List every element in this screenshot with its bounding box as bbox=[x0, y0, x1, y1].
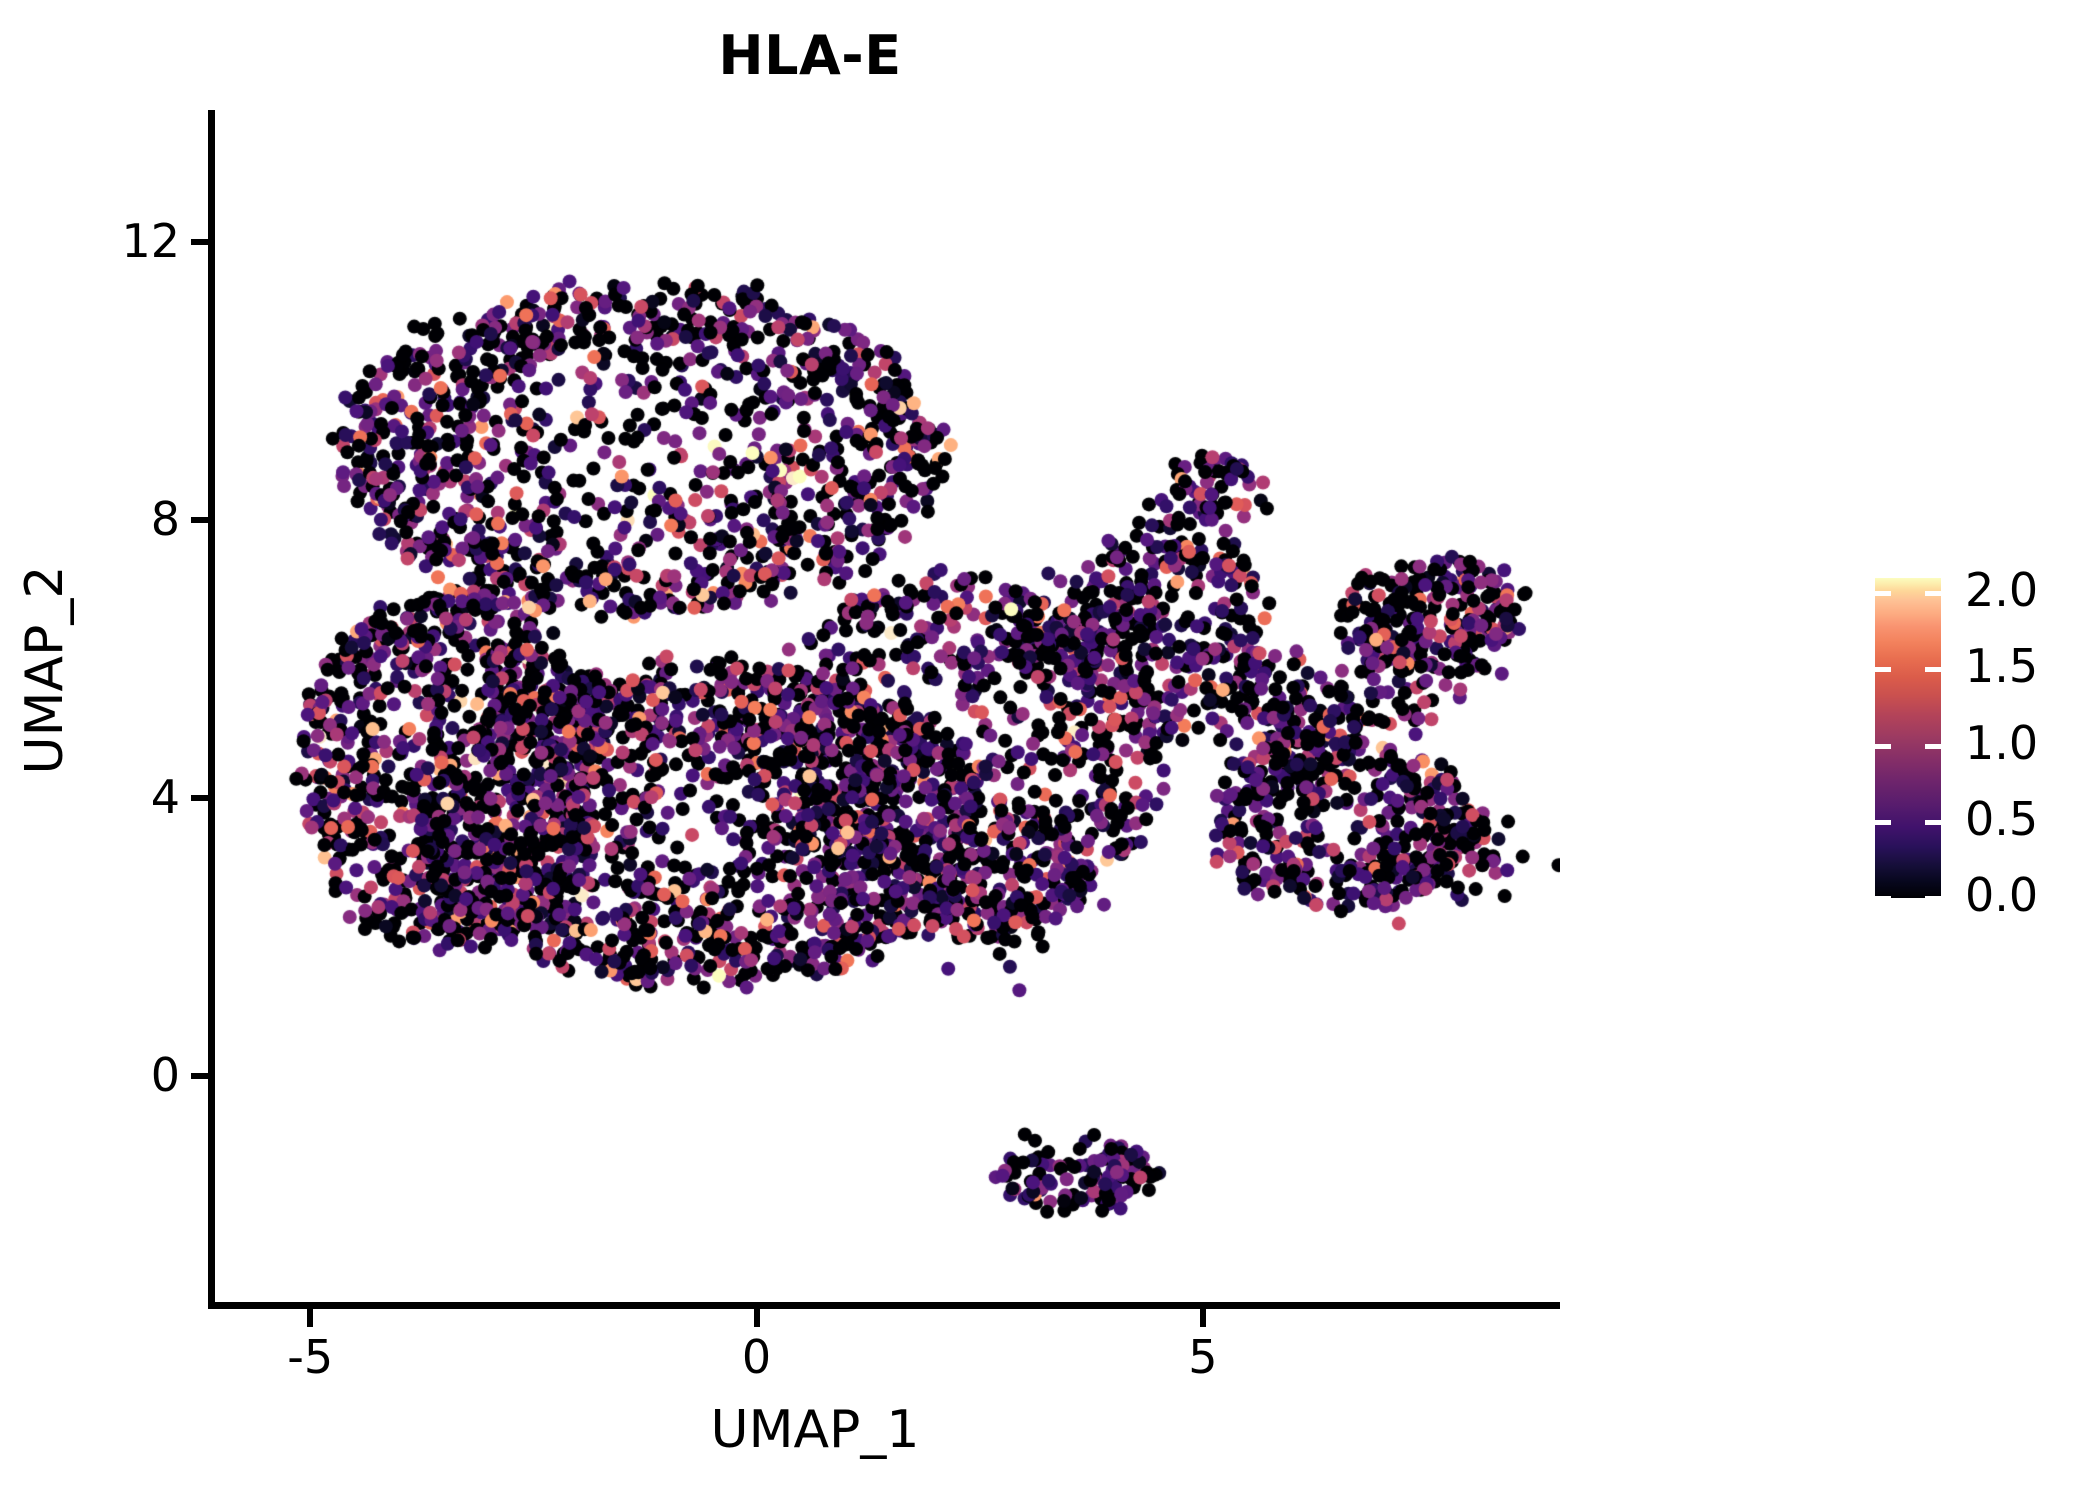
colorbar-tick-mark bbox=[1875, 820, 1891, 825]
x-axis-title: UMAP_1 bbox=[0, 1400, 1630, 1460]
chart-title: HLA-E bbox=[0, 24, 1620, 87]
colorbar-tick-label: 0.5 bbox=[1965, 796, 2038, 842]
colorbar-tick-mark bbox=[1925, 591, 1941, 596]
y-tick-mark bbox=[191, 239, 209, 245]
x-tick-label: 0 bbox=[677, 1330, 837, 1384]
colorbar-tick-label: 0.0 bbox=[1965, 872, 2038, 918]
colorbar-tick-mark bbox=[1925, 896, 1941, 901]
colorbar: 2.01.51.00.50.0 bbox=[1875, 578, 2085, 908]
x-tick-mark bbox=[307, 1309, 313, 1327]
umap-figure: HLA-E 04812 -505 UMAP_1 UMAP_2 2.01.51.0… bbox=[0, 0, 2100, 1500]
y-tick-mark bbox=[191, 1073, 209, 1079]
colorbar-tick-mark bbox=[1925, 820, 1941, 825]
colorbar-gradient bbox=[1875, 578, 1941, 898]
y-tick-mark bbox=[191, 795, 209, 801]
x-axis-spine bbox=[208, 1302, 1560, 1309]
x-tick-label: 5 bbox=[1123, 1330, 1283, 1384]
y-tick-mark bbox=[191, 517, 209, 523]
scatter-points-canvas bbox=[212, 110, 1560, 1305]
colorbar-tick-mark bbox=[1875, 896, 1891, 901]
y-axis-spine bbox=[208, 110, 215, 1309]
colorbar-tick-label: 2.0 bbox=[1965, 567, 2038, 613]
colorbar-tick-label: 1.0 bbox=[1965, 720, 2038, 766]
scatter-plot-area[interactable] bbox=[212, 110, 1560, 1305]
colorbar-tick-mark bbox=[1875, 667, 1891, 672]
x-tick-mark bbox=[754, 1309, 760, 1327]
colorbar-tick-mark bbox=[1925, 744, 1941, 749]
y-axis-title: UMAP_2 bbox=[15, 370, 75, 970]
colorbar-tick-label: 1.5 bbox=[1965, 643, 2038, 689]
colorbar-tick-mark bbox=[1925, 667, 1941, 672]
x-tick-mark bbox=[1200, 1309, 1206, 1327]
colorbar-tick-mark bbox=[1875, 591, 1891, 596]
x-tick-label: -5 bbox=[230, 1330, 390, 1384]
colorbar-tick-mark bbox=[1875, 744, 1891, 749]
y-tick-label: 0 bbox=[20, 1048, 180, 1102]
y-tick-label: 12 bbox=[20, 214, 180, 268]
